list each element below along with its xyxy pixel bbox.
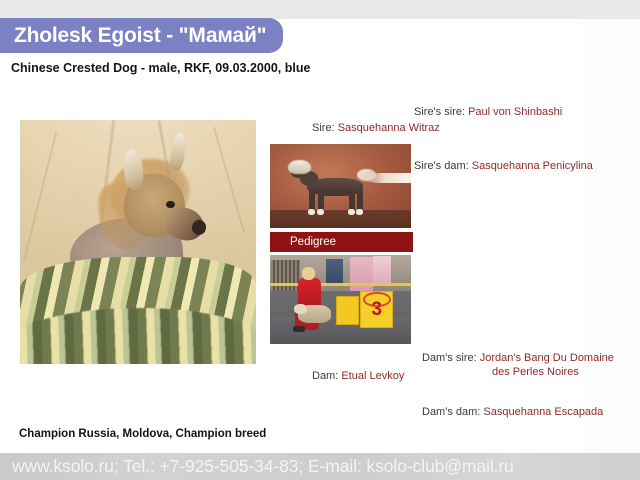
dams-dam-name: Sasquehanna Escapada [483,406,603,418]
rosette-ring-graphic [363,292,391,307]
slide-root: Zholesk Egoist - "Мамай" Chinese Crested… [0,0,640,480]
slide-right-margin [583,19,640,453]
sire-photo [270,144,411,228]
sires-sire-label: Sire's sire: [414,106,468,118]
sires-dam-entry: Sire's dam: Sasquehanna Penicylina [414,160,593,172]
sires-sire-name: Paul von Shinbashi [468,106,562,118]
striped-blanket-fold [20,308,256,364]
dog-eye [166,201,174,208]
top-gray-strip [0,0,640,19]
handler-head [302,267,315,279]
sire-photo-floor [270,210,411,228]
dams-sire-name-line2: des Perles Noires [492,366,579,378]
contact-footer-text: www.ksolo.ru; Tel.: +7-925-505-34-83; E-… [12,456,514,477]
dam-dog-head [294,304,307,314]
dam-name: Etual Levkoy [341,370,404,382]
dams-dam-label: Dam's dam: [422,406,483,418]
dam-photo: 3 [270,255,411,344]
sires-dam-label: Sire's dam: [414,160,472,172]
sire-foot [348,209,355,215]
handler-shoe [293,326,306,331]
breed-info-line: Chinese Crested Dog - male, RKF, 09.03.2… [11,61,310,75]
ring-barrier-rope [270,283,411,286]
pedigree-button[interactable]: Pedigree [270,232,413,252]
champion-titles-caption: Champion Russia, Moldova, Champion breed [19,428,266,440]
ring-number-sign [336,296,359,325]
dam-entry: Dam: Etual Levkoy [312,370,404,382]
sires-sire-entry: Sire's sire: Paul von Shinbashi [414,106,562,118]
page-title-banner: Zholesk Egoist - "Мамай" [0,18,283,53]
dams-sire-name: Jordan's Bang Du Domaine [480,352,614,364]
dams-dam-entry: Dam's dam: Sasquehanna Escapada [422,406,603,418]
spectator-jeans [326,259,343,286]
dams-sire-entry: Dam's sire: Jordan's Bang Du Domaine [422,352,614,364]
dam-label: Dam: [312,370,341,382]
sire-entry: Sire: Sasquehanna Witraz [312,122,440,134]
sire-foot [356,209,363,215]
contact-footer-bar: www.ksolo.ru; Tel.: +7-925-505-34-83; E-… [0,453,640,480]
page-title: Zholesk Egoist - "Мамай" [14,25,266,46]
handler-hand [363,173,411,184]
dams-sire-label: Dam's sire: [422,352,480,364]
sire-foot [308,209,315,215]
sires-dam-name: Sasquehanna Penicylina [472,160,593,172]
pedigree-button-label: Pedigree [290,236,336,248]
sire-foot [317,209,324,215]
spectator-pink-clothes [373,256,391,286]
sire-name: Sasquehanna Witraz [338,122,440,134]
main-dog-photo [20,120,256,364]
sire-crest-hair [288,160,311,174]
sire-label: Sire: [312,122,338,134]
